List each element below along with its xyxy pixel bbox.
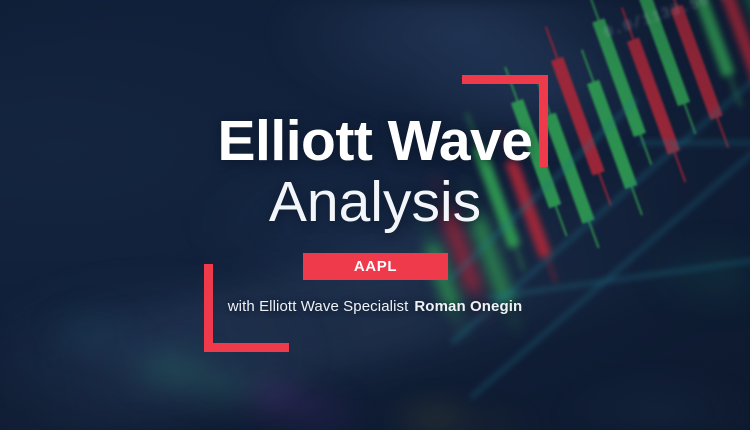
specialist-name: Roman Onegin (414, 298, 522, 315)
banner-content: Elliott Wave Analysis AAPL with Elliott … (0, 0, 750, 430)
ticker-badge-label: AAPL (354, 258, 397, 275)
ticker-badge[interactable]: AAPL (303, 253, 448, 280)
elliott-wave-banner: 0.0/1133.50 1.0330 Elliott Wave Analysis… (0, 0, 750, 430)
page-title-line1: Elliott Wave (0, 113, 750, 170)
page-title-line2: Analysis (0, 174, 750, 231)
byline: with Elliott Wave SpecialistRoman Onegin (0, 298, 750, 315)
byline-prefix: with Elliott Wave Specialist (228, 298, 409, 315)
